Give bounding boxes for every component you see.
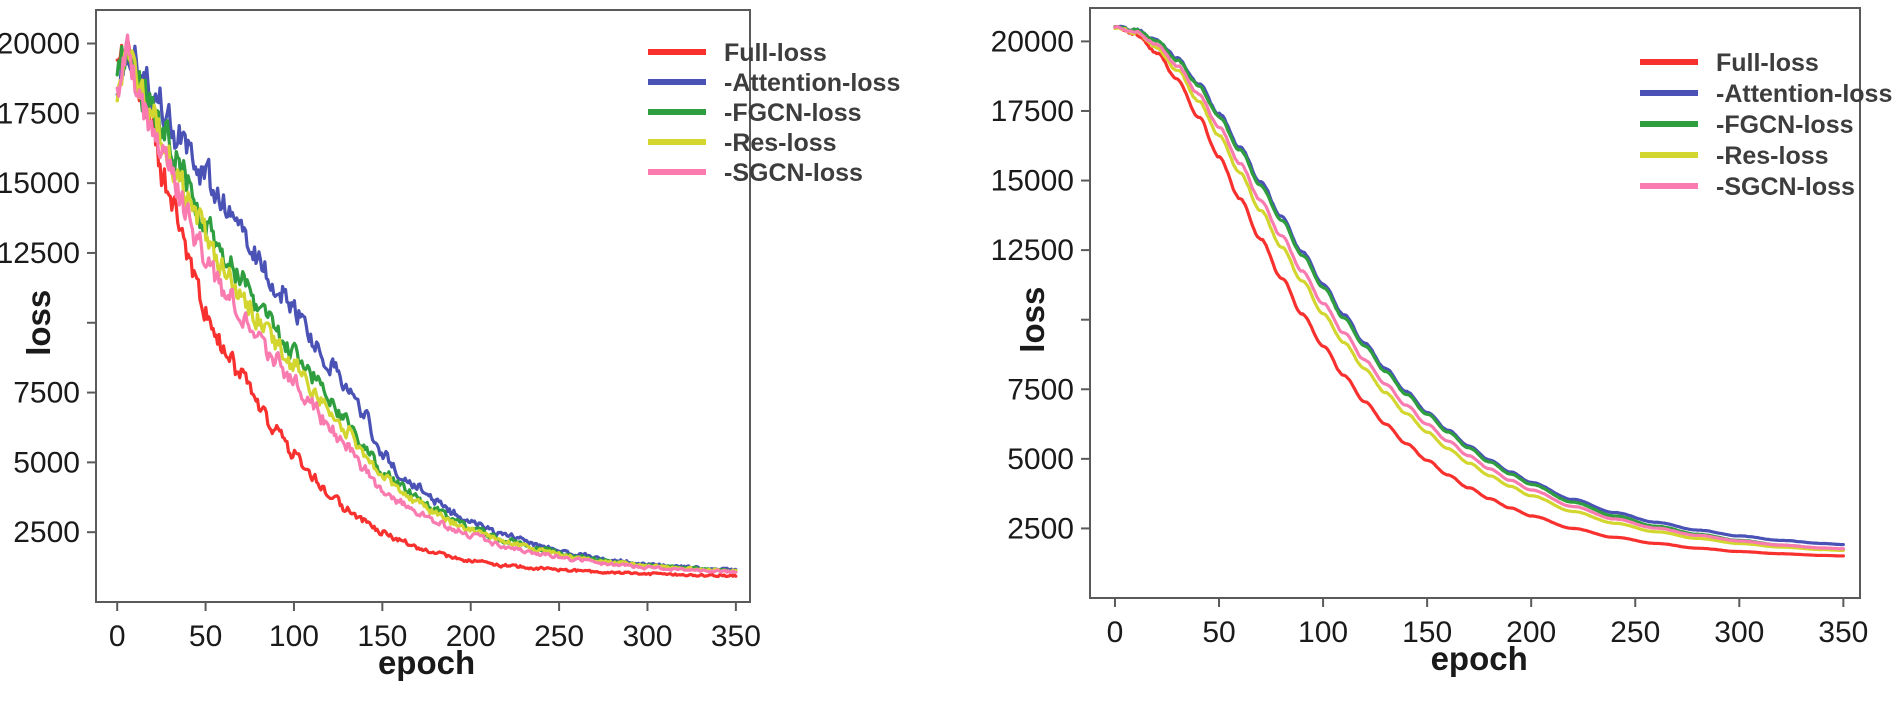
y-tick-label: 15000 [991,165,1074,198]
y-tick-label: 2500 [13,516,80,549]
y-tick-label: 12500 [0,237,80,270]
y-axis-title: loss [1014,287,1051,353]
legend-label: -SGCN-loss [1716,173,1855,201]
chart-legend: Full-loss-Attention-loss-FGCN-loss-Res-l… [1640,49,1892,201]
x-axis-title: epoch [378,644,475,681]
y-tick-label: 12500 [991,234,1074,267]
legend-label: Full-loss [724,39,827,67]
series-line-attention-loss [117,46,736,570]
y-tick-label: 17500 [991,95,1074,128]
legend-label: Full-loss [1716,49,1819,77]
y-axis-title: loss [20,290,57,356]
chart-legend: Full-loss-Attention-loss-FGCN-loss-Res-l… [648,39,900,187]
y-tick-label: 15000 [0,167,80,200]
y-tick-label: 17500 [0,97,80,130]
x-tick-label: 300 [1714,616,1764,649]
y-tick-label: 7500 [1007,373,1074,406]
y-tick-label: 20000 [0,28,80,61]
x-tick-label: 50 [189,620,222,653]
x-tick-label: 300 [622,620,672,653]
x-tick-label: 0 [1107,616,1124,649]
legend-label: -FGCN-loss [1716,111,1854,139]
x-tick-label: 350 [711,620,761,653]
y-tick-label: 2500 [1007,512,1074,545]
legend-label: -SGCN-loss [724,159,863,187]
legend-label: -Res-loss [1716,142,1829,170]
legend-label: -FGCN-loss [724,99,862,127]
legend-label: -Res-loss [724,129,837,157]
chart-svg: 2500500075001250015000175002000005010015… [0,0,940,710]
series-line-sgcn-loss [117,35,736,572]
x-tick-label: 100 [1298,616,1348,649]
x-tick-label: 100 [269,620,319,653]
y-tick-label: 20000 [991,25,1074,58]
x-tick-label: 50 [1202,616,1235,649]
chart-panel-right: 2500500075001250015000175002000005010015… [940,0,1900,710]
x-tick-label: 350 [1818,616,1868,649]
series-group [117,35,736,577]
legend-label: -Attention-loss [724,69,900,97]
x-tick-label: 250 [1610,616,1660,649]
loss-curves-figure: 2500500075001250015000175002000005010015… [0,0,1900,710]
y-tick-label: 5000 [1007,443,1074,476]
y-tick-label: 7500 [13,377,80,410]
x-tick-label: 0 [109,620,126,653]
legend-label: -Attention-loss [1716,80,1892,108]
x-axis-title: epoch [1431,640,1528,677]
chart-panel-left: 2500500075001250015000175002000005010015… [0,0,940,710]
x-tick-label: 250 [534,620,584,653]
y-tick-label: 5000 [13,446,80,479]
chart-svg: 2500500075001250015000175002000005010015… [940,0,1900,710]
